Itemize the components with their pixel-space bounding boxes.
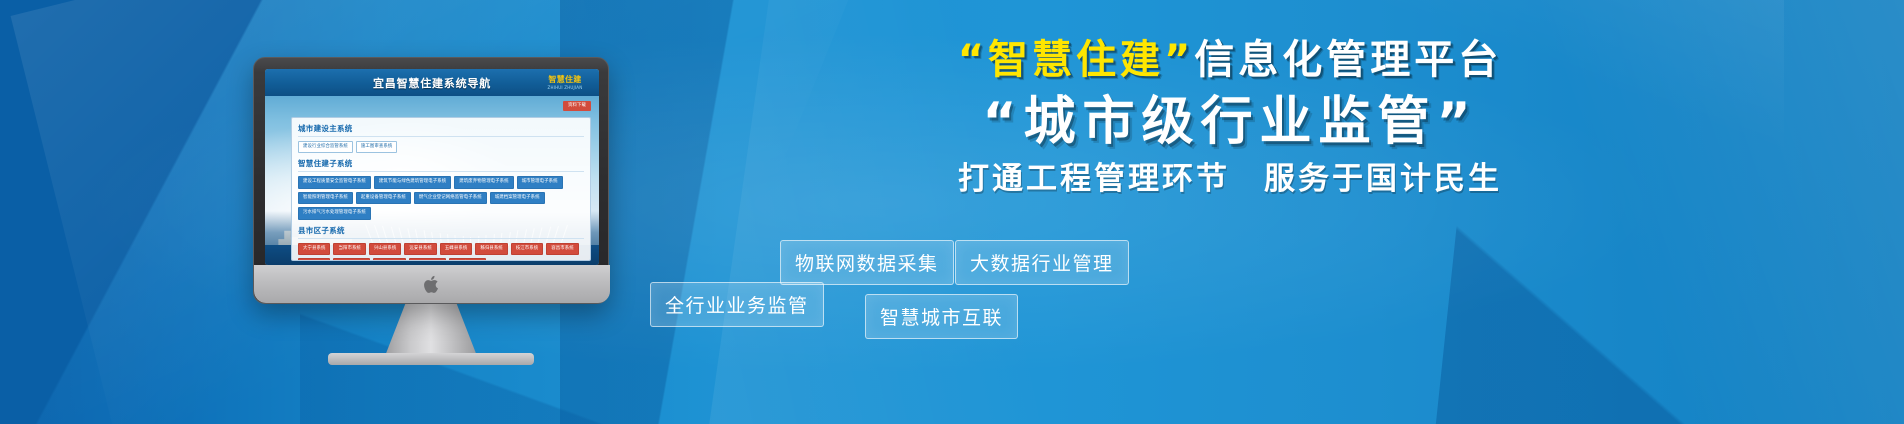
feature-pill-iot[interactable]: 物联网数据采集 bbox=[780, 240, 954, 285]
screen-brand-logo: 智慧住建 ZHIHUI ZHUJIAN bbox=[537, 72, 593, 93]
screen-system-chip[interactable]: 城市管理电子系统 bbox=[517, 176, 563, 188]
imac-foot bbox=[328, 353, 534, 365]
screen-system-chip[interactable]: 点军区系统 bbox=[373, 258, 405, 261]
screen-content: 宜昌智慧住建系统导航 智慧住建 ZHIHUI ZHUJIAN 资料下载 城市建设… bbox=[265, 69, 599, 265]
headline-block: “智慧住建”信息化管理平台 “城市级行业监管” 打通工程管理环节 服务于国计民生 bbox=[640, 40, 1820, 195]
feature-pill-bigdata[interactable]: 大数据行业管理 bbox=[955, 240, 1129, 285]
screen-system-chip[interactable]: 五峰县系统 bbox=[440, 243, 472, 255]
apple-logo-icon bbox=[424, 275, 441, 294]
screen-system-chip[interactable]: 智能照明管理电子系统 bbox=[298, 192, 353, 204]
screen-system-chip[interactable]: 秭归县系统 bbox=[475, 243, 507, 255]
brand-logo-secondary: ZHIHUI ZHUJIAN bbox=[548, 86, 583, 90]
screen-system-chip[interactable]: 建设行业综合监管系统 bbox=[298, 141, 353, 153]
screen-header-title: 宜昌智慧住建系统导航 bbox=[373, 75, 491, 91]
screen-system-chip[interactable]: 污水排气污水处理管理电子系统 bbox=[298, 207, 371, 219]
screen-system-chip[interactable]: 起重设备管理电子系统 bbox=[356, 192, 411, 204]
screen-system-chip[interactable]: 当阳市系统 bbox=[333, 243, 365, 255]
imac-body: 宜昌智慧住建系统导航 智慧住建 ZHIHUI ZHUJIAN 资料下载 城市建设… bbox=[253, 57, 609, 304]
screen-system-chip[interactable]: 施工图审查系统 bbox=[356, 141, 397, 153]
screen-system-chip[interactable]: 城建档案管理电子系统 bbox=[490, 192, 545, 204]
screen-system-chip[interactable]: 远安县系统 bbox=[404, 243, 436, 255]
screen-system-chip[interactable]: 伍家岗区系统 bbox=[333, 258, 370, 261]
screen-system-chip[interactable]: 建设工程质量安全监管电子系统 bbox=[298, 176, 371, 188]
screen-chip-row: 建设行业综合监管系统施工图审查系统 bbox=[298, 141, 584, 153]
headline-rest: 信息化管理平台 bbox=[1194, 37, 1502, 83]
screen-nav-panel: 城市建设主系统建设行业综合监管系统施工图审查系统智慧住建子系统建设工程质量安全监… bbox=[291, 117, 591, 261]
headline-quote-close: ” bbox=[1164, 37, 1194, 83]
screen-system-chip[interactable]: 枝江市系统 bbox=[511, 243, 543, 255]
screen-system-chip[interactable]: 兴山县系统 bbox=[369, 243, 401, 255]
screen-system-chip[interactable]: 容昌市系统 bbox=[546, 243, 578, 255]
screen-section-title: 智慧住建子系统 bbox=[298, 158, 584, 172]
screen-section-title: 城市建设主系统 bbox=[298, 123, 584, 137]
brand-logo-primary: 智慧住建 bbox=[548, 76, 581, 84]
feature-pill-supervision[interactable]: 全行业业务监管 bbox=[650, 282, 824, 327]
feature-pill-smartcity[interactable]: 智慧城市互联 bbox=[865, 294, 1018, 339]
imac-screen-bezel: 宜昌智慧住建系统导航 智慧住建 ZHIHUI ZHUJIAN 资料下载 城市建设… bbox=[265, 69, 599, 265]
download-button[interactable]: 资料下载 bbox=[563, 101, 591, 111]
screen-system-chip[interactable]: 西陵区系统 bbox=[298, 258, 330, 261]
screen-system-chip[interactable]: 建筑废弃物管理电子系统 bbox=[454, 176, 513, 188]
screen-system-chip[interactable]: 夜明珠区系统 bbox=[449, 258, 486, 261]
headline-quote-open: “ bbox=[958, 37, 988, 83]
feature-pill-group: 物联网数据采集 大数据行业管理 全行业业务监管 智慧城市互联 bbox=[640, 232, 1820, 342]
headline-line-2: “城市级行业监管” bbox=[640, 96, 1820, 148]
headline-subtitle: 打通工程管理环节 服务于国计民生 bbox=[640, 164, 1820, 195]
promo-banner: 宜昌智慧住建系统导航 智慧住建 ZHIHUI ZHUJIAN 资料下载 城市建设… bbox=[0, 0, 1904, 424]
screen-system-chip[interactable]: 燃气企业登记网络监管电子系统 bbox=[414, 192, 487, 204]
screen-system-chip[interactable]: 大宁县系统 bbox=[298, 243, 330, 255]
screen-chip-row: 建设工程质量安全监管电子系统建筑节能与绿色建筑管理电子系统建筑废弃物管理电子系统… bbox=[298, 176, 584, 219]
screen-section-title: 县市区子系统 bbox=[298, 225, 584, 239]
headline-highlight: 智慧住建 bbox=[988, 37, 1164, 83]
screen-chip-row: 大宁县系统当阳市系统兴山县系统远安县系统五峰县系统秭归县系统枝江市系统容昌市系统… bbox=[298, 243, 584, 261]
headline-line-1: “智慧住建”信息化管理平台 bbox=[640, 40, 1820, 80]
imac-chin bbox=[254, 265, 610, 303]
screen-system-chip[interactable]: 建筑节能与绿色建筑管理电子系统 bbox=[374, 176, 451, 188]
screen-system-chip[interactable]: 琁亝山区系统 bbox=[409, 258, 446, 261]
imac-mockup: 宜昌智慧住建系统导航 智慧住建 ZHIHUI ZHUJIAN 资料下载 城市建设… bbox=[253, 57, 609, 304]
